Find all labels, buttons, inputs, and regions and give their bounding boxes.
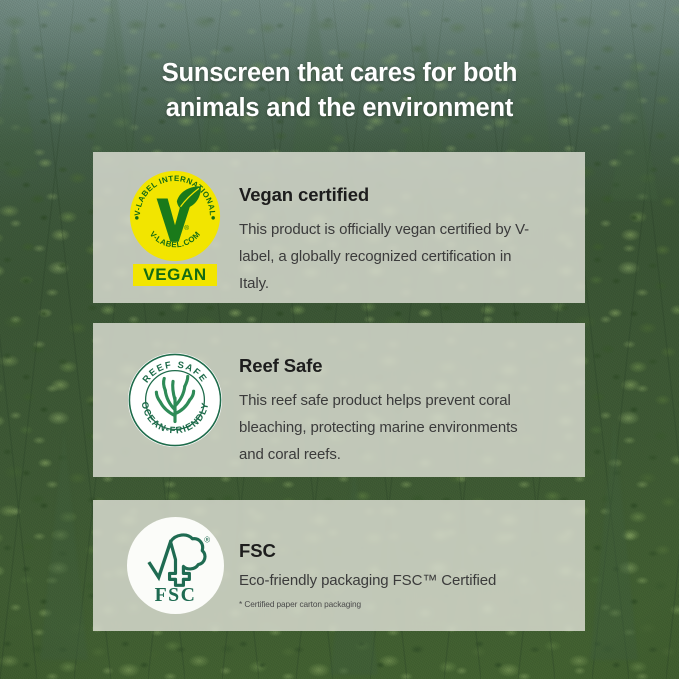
certification-card-fsc: ® FSC FSC Eco-friendly packaging FSC™ Ce… — [93, 500, 585, 631]
fsc-registered-mark: ® — [204, 536, 210, 545]
reef-text-column: Reef Safe This reef safe product helps p… — [239, 345, 561, 468]
vegan-text-column: Vegan certified This product is official… — [239, 174, 561, 297]
v-label-vegan-badge: V-LABEL INTERNATIONAL V-LABEL.COM — [129, 170, 221, 286]
card-body-vegan: This product is officially vegan certifi… — [239, 216, 539, 297]
card-title-vegan: Vegan certified — [239, 184, 561, 206]
page-title-line-1: Sunscreen that cares for both — [162, 59, 518, 87]
reef-safe-badge: REEF SAFE OCEAN-FRIENDLY — [126, 351, 224, 449]
certification-card-vegan: V-LABEL INTERNATIONAL V-LABEL.COM — [93, 152, 585, 303]
certification-card-list: V-LABEL INTERNATIONAL V-LABEL.COM — [93, 152, 585, 631]
card-title-reef-safe: Reef Safe — [239, 355, 561, 377]
page-title-line-2: animals and the environment — [166, 94, 513, 122]
svg-text:®: ® — [184, 223, 189, 231]
vegan-badge-column: V-LABEL INTERNATIONAL V-LABEL.COM — [111, 170, 239, 286]
card-title-fsc: FSC — [239, 540, 561, 562]
fsc-badge-column: ® FSC — [111, 516, 239, 615]
page-title: Sunscreen that cares for both animals an… — [0, 56, 679, 126]
fsc-badge: ® FSC — [126, 516, 225, 615]
certification-card-reef-safe: REEF SAFE OCEAN-FRIENDLY — [93, 323, 585, 477]
vegan-banner-label: VEGAN — [133, 264, 216, 286]
card-body-fsc: Eco-friendly packaging FSC™ Certified — [239, 570, 561, 592]
fsc-wordmark: FSC — [154, 584, 196, 606]
reef-badge-column: REEF SAFE OCEAN-FRIENDLY — [111, 351, 239, 449]
card-body-reef-safe: This reef safe product helps prevent cor… — [239, 387, 539, 468]
v-label-seal-icon: V-LABEL INTERNATIONAL V-LABEL.COM — [129, 170, 221, 262]
card-note-fsc: * Certified paper carton packaging — [239, 599, 561, 609]
fsc-text-column: FSC Eco-friendly packaging FSC™ Certifie… — [239, 522, 561, 609]
